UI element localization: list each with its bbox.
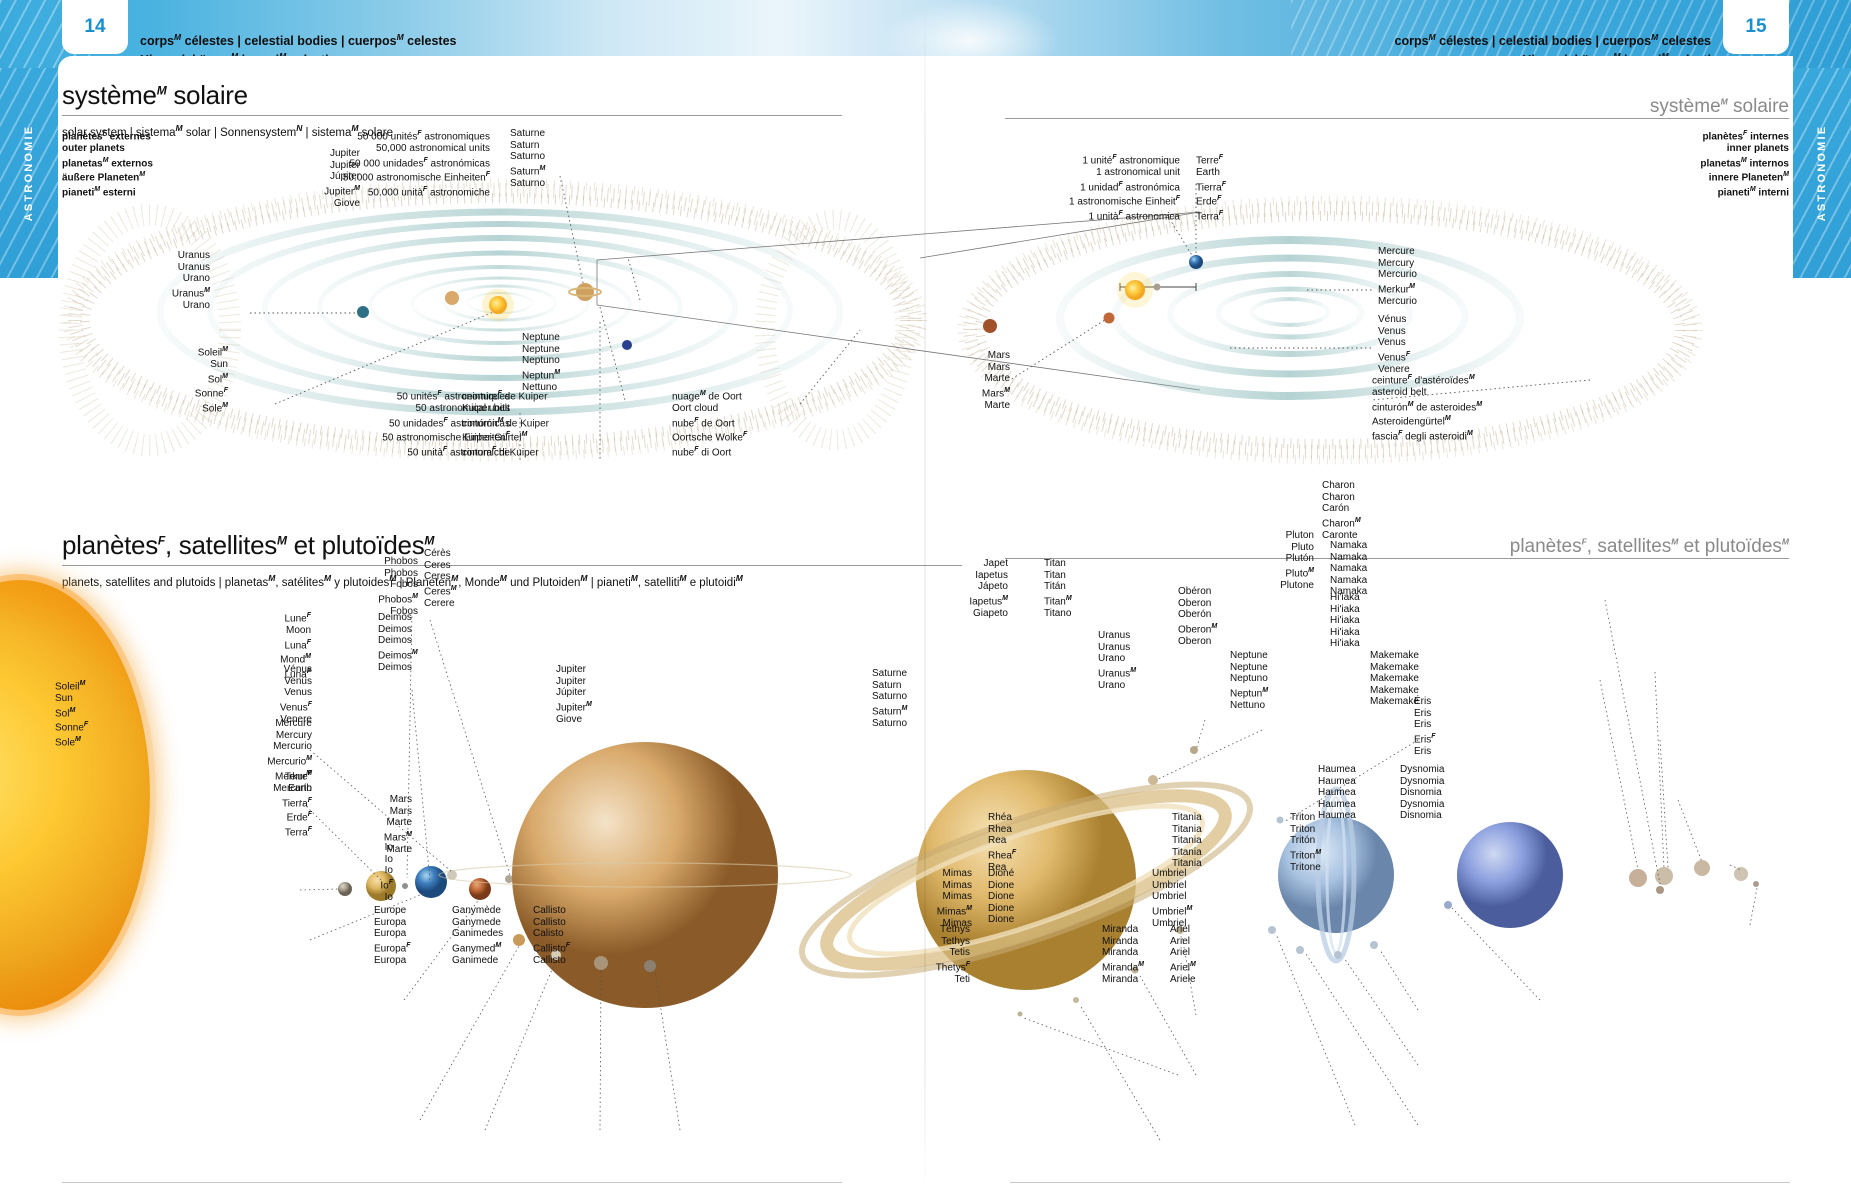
label-iapetus: JapetIapetusJápetoIapetusMGiapeto <box>960 558 1008 619</box>
label-tethys: TéthysTethysTetisThetysFTeti <box>930 924 970 985</box>
sun-outer <box>489 296 507 314</box>
label-saturn-bottom: SaturneSaturnSaturnoSaturnMSaturno <box>872 668 907 729</box>
label-miranda: MirandaMirandaMirandaMirandaMMiranda <box>1102 924 1144 985</box>
label-ceres: CérèsCeresCeresCeresMCerere <box>424 548 457 609</box>
moon-ganymede <box>594 956 608 970</box>
planets-row <box>300 600 1759 1140</box>
label-namaka: NamakaNamakaNamakaNamakaNamaka <box>1330 540 1367 598</box>
sun-inner <box>1125 280 1145 300</box>
page-number-right: 15 <box>1723 0 1789 54</box>
label-inner-planets: planètesF internesinner planetsplanetasM… <box>1629 128 1789 199</box>
phobos-deimos-marker <box>402 883 408 889</box>
dwarf-makemake <box>1694 860 1710 876</box>
rail-label-left: ASTRONOMIE <box>23 125 35 222</box>
breadcrumb-right-line1: corpsM célestes | celestial bodies | cue… <box>1395 30 1712 49</box>
bottom-leaders <box>300 600 1757 1140</box>
label-venus-bottom: VénusVenusVenusVenusFVenere <box>242 664 312 725</box>
section-solar-system-title-right: systèmeM solaire <box>1189 96 1789 118</box>
moon-umbriel <box>1334 951 1342 959</box>
asteroid-belt-speckles <box>962 200 1698 460</box>
planet-earth-inner <box>1189 255 1203 269</box>
planet-neptune-outer <box>622 340 632 350</box>
au-bracket <box>1120 283 1196 291</box>
planet-neptune <box>1457 822 1563 928</box>
book-spine <box>924 0 926 1200</box>
label-haumea: HaumeaHaumeaHaumeaHaumeaHaumea <box>1318 764 1356 822</box>
outer-orbits <box>160 212 840 412</box>
title-rule-right-2 <box>1005 558 1789 559</box>
label-sun-bottom: SoleilMSunSolMSonneFSoleM <box>55 678 88 749</box>
breadcrumb-left-line1: corpsM célestes | celestial bodies | cue… <box>140 30 457 49</box>
label-io: IoIoIoIoFIo <box>365 842 393 903</box>
planet-uranus-outer <box>357 306 369 318</box>
label-callisto: CallistoCallistoCalistoCallistoFCallisto <box>533 905 570 966</box>
dwarf-pluto <box>1629 869 1647 887</box>
label-uranus-bottom: UranusUranusUranoUranusMUrano <box>1098 630 1136 691</box>
planet-mercury-inner <box>1154 284 1161 291</box>
label-asteroid-belt: ceintureF d'astéroïdesMasteroid beltcint… <box>1372 372 1482 443</box>
label-dysnomia: DysnomiaDysnomiaDisnomiaDysnomiaDisnomia <box>1400 764 1444 822</box>
label-50000-au: 50 000 unitésF astronomiques50,000 astro… <box>330 128 490 199</box>
dwarf-haumea <box>1655 867 1673 885</box>
section-planets-title-right: planètesF, satellitesM et plutoïdesM <box>1089 536 1789 558</box>
moon-titan <box>1148 775 1158 785</box>
moon-ariel <box>1296 946 1304 954</box>
planet-saturn-outer <box>576 283 594 301</box>
planet-jupiter-outer <box>445 291 459 305</box>
label-oberon: ObéronOberonOberónOberonMOberon <box>1178 586 1217 647</box>
moon-oberon <box>1277 817 1284 824</box>
label-ariel: ArielArielArielArielMAriele <box>1170 924 1196 985</box>
label-neptune-outer: NeptuneNeptuneNeptunoNeptunMNettuno <box>522 332 560 393</box>
label-triton: TritonTritonTritónTritonMTritone <box>1290 812 1321 873</box>
section-planets-subtitle: planets, satellites and plutoids | plane… <box>62 573 962 589</box>
moon-titania <box>1370 941 1378 949</box>
label-europa: EuropeEuropaEuropaEuropaFEuropa <box>374 905 411 966</box>
label-jupiter-bottom: JupiterJupiterJúpiterJupiterMGiove <box>556 664 592 725</box>
label-deimos: DeimosDeimosDeimosDeimosMDeimos <box>378 612 418 673</box>
label-umbriel: UmbrielUmbrielUmbrielUmbrielMUmbriel <box>1152 868 1192 929</box>
planet-mars <box>469 878 491 900</box>
label-mercury-inner: MercureMercuryMercurioMerkurMMercurio <box>1378 246 1417 307</box>
label-dione: DionéDioneDioneDioneDione <box>988 868 1014 926</box>
title-rule <box>62 115 842 116</box>
planet-mercury <box>338 882 352 896</box>
label-pluto: PlutonPlutoPlutónPlutoMPlutone <box>1266 530 1314 591</box>
inner-system-diagram <box>962 182 1698 460</box>
moon-callisto <box>644 960 656 972</box>
moon-miranda <box>1268 926 1276 934</box>
sidebar-rail-right: ASTRONOMIE <box>1793 68 1851 278</box>
label-oort-cloud: nuageM de OortOort cloudnubeF de OortOor… <box>672 388 747 459</box>
label-earth-bottom: TerreFEarthTierraFErdeFTerraF <box>240 768 312 839</box>
label-titan: TitanTitanTitánTitanMTitano <box>1044 558 1072 619</box>
label-eris: ÉrisErisErisErisFEris <box>1414 696 1436 757</box>
section-planets-header: planètesF, satellitesM et plutoïdesM pla… <box>62 530 962 589</box>
planet-extra-inner <box>983 319 997 333</box>
section-planets-title: planètesF, satellitesM et plutoïdesM <box>62 530 962 561</box>
label-titania: TitaniaTitaniaTitaniaTitaniaTitania <box>1172 812 1202 870</box>
label-mars-inner: MarsMarsMarteMarsMMarte <box>960 350 1010 411</box>
section-solar-system-title: systèmeM solaire <box>62 80 842 111</box>
sun-large-illustration <box>0 580 150 1010</box>
label-ganymede: GanymèdeGanymedeGanimedesGanymedMGanimed… <box>452 905 503 966</box>
page-number-left: 14 <box>62 0 128 54</box>
label-makemake: MakemakeMakemakeMakemakeMakemakeMakemake <box>1370 650 1419 708</box>
great-red-spot <box>663 902 731 942</box>
moon-dysnomia <box>1753 881 1759 887</box>
moon-io <box>513 934 525 946</box>
label-neptune-bottom: NeptuneNeptuneNeptunoNeptunMNettuno <box>1230 650 1268 711</box>
zoom-connector-lines <box>597 212 1200 390</box>
moon-mimas <box>1018 1012 1023 1017</box>
label-outer-planets: planètesF externesouter planetsplanetasM… <box>62 128 153 199</box>
planet-earth <box>415 866 447 898</box>
moon-charon <box>1656 886 1664 894</box>
dwarf-ceres <box>505 875 513 883</box>
label-rhea: RhéaRheaReaRheaFRea <box>988 812 1016 873</box>
title-rule-2 <box>62 565 962 566</box>
label-earth-inner: TerreFEarthTierraFErdeFTerraF <box>1196 152 1226 223</box>
sidebar-rail-left: ASTRONOMIE <box>0 68 58 278</box>
jupiter-moon-plane <box>439 863 851 887</box>
moon <box>447 870 457 880</box>
label-charon: CharonCharonCarónCharonMCaronte <box>1322 480 1361 541</box>
label-kuiper-belt: ceintureF de KuiperKuiper beltcinturónM … <box>462 388 549 459</box>
label-mimas: MimasMimasMimasMimasMMimas <box>930 868 972 929</box>
title-rule-right <box>1005 118 1789 119</box>
moon-tethys <box>1073 997 1079 1003</box>
label-sun-outer: SoleilMSunSolMSonneFSoleM <box>178 344 228 415</box>
footer-rule-left <box>62 1182 842 1183</box>
encyclopedia-spread: 14 15 corpsM célestes | celestial bodies… <box>0 0 1851 1200</box>
label-saturn-outer: SaturneSaturnSaturnoSaturnMSaturno <box>510 128 545 189</box>
label-phobos: PhobosPhobosFobosPhobosMFobos <box>358 556 418 617</box>
rail-label-right: ASTRONOMIE <box>1816 125 1828 222</box>
saturn-ring-outer <box>569 288 601 296</box>
footer-rule-right <box>1010 1182 1790 1183</box>
label-uranus-outer: UranusUranusUranoUranusMUrano <box>150 250 210 311</box>
dwarf-eris <box>1734 867 1748 881</box>
planet-jupiter <box>512 742 778 1008</box>
label-hiiaka: Hi'iakaHi'iakaHi'iakaHi'iakaHi'iaka <box>1330 592 1360 650</box>
moon-iapetus <box>1190 746 1198 754</box>
label-1-au: 1 unitéF astronomique1 astronomical unit… <box>1010 152 1180 223</box>
label-venus-inner: VénusVenusVenusVenusFVenere <box>1378 314 1410 375</box>
moon-triton <box>1444 901 1452 909</box>
planet-mars-inner <box>1104 313 1115 324</box>
